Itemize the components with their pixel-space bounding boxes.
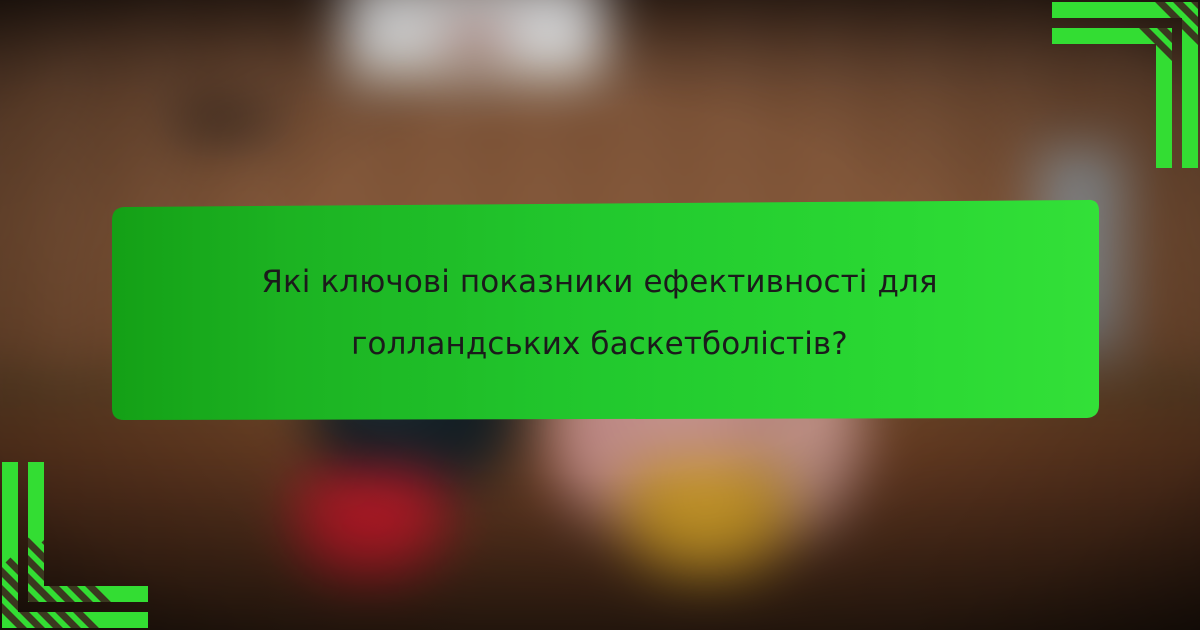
question-line-1: Які ключові показники ефективності для	[261, 251, 937, 313]
question-text-block: Які ключові показники ефективності для г…	[100, 198, 1099, 428]
question-line-2: голландських баскетболістів?	[351, 313, 848, 375]
question-card-image: Які ключові показники ефективності для г…	[0, 0, 1200, 630]
question-banner: Які ключові показники ефективності для г…	[100, 198, 1099, 428]
